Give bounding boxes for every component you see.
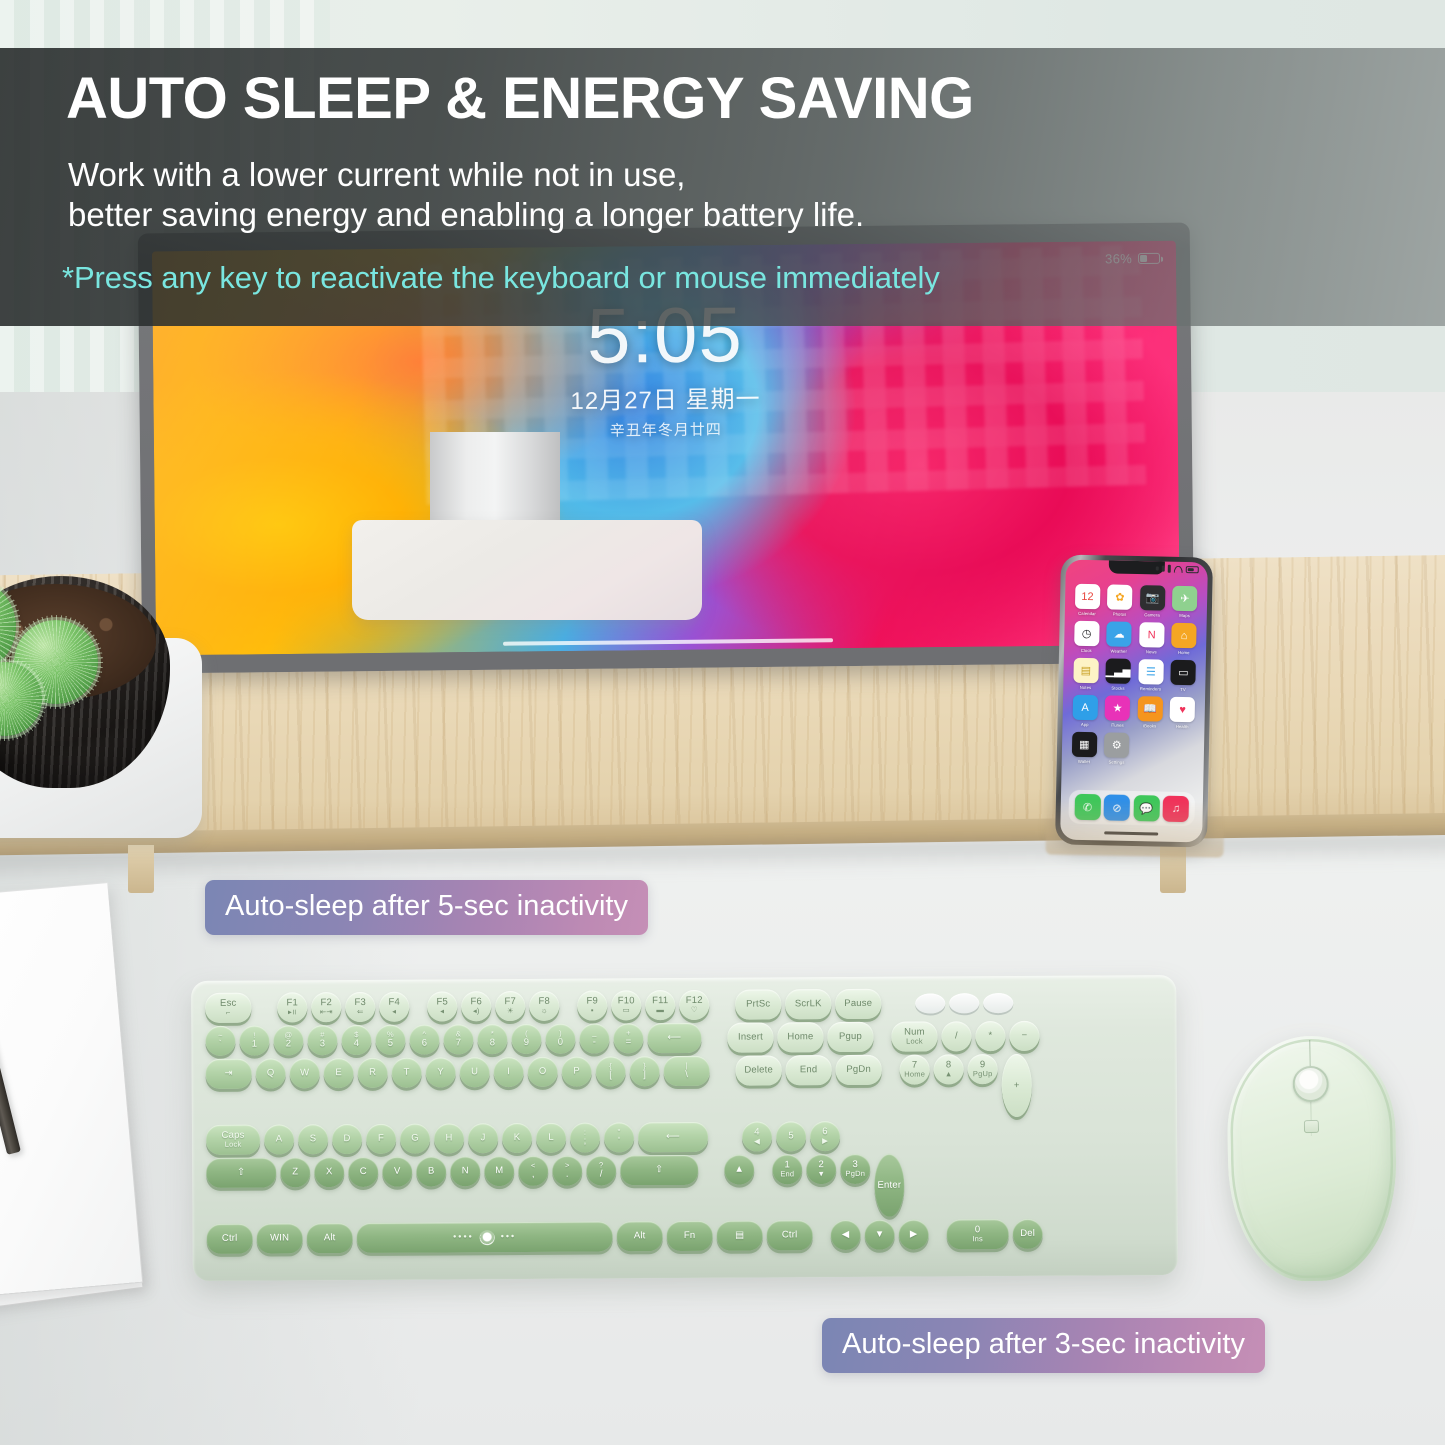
key-f11[interactable]: F11▬	[645, 990, 675, 1020]
app-icon-itunes[interactable]: ★iTunes	[1104, 695, 1131, 728]
key-j[interactable]: J	[468, 1123, 498, 1153]
app-icon-wallet[interactable]: ▦Wallet	[1071, 732, 1098, 765]
key-legend: Q	[267, 1069, 275, 1079]
key-legend: *	[988, 1031, 992, 1041]
key-legend: E	[335, 1068, 342, 1078]
key-legend: ▤	[735, 1231, 744, 1241]
key-f4[interactable]: F4◂	[379, 992, 409, 1022]
key-legend: `	[219, 1040, 222, 1050]
key-r[interactable]: R	[358, 1058, 388, 1088]
key-legend: 1	[252, 1040, 258, 1050]
key-legend: ;	[584, 1137, 587, 1147]
app-label: Clock	[1081, 648, 1092, 653]
key-3[interactable]: 3PgDn	[840, 1154, 870, 1184]
key-key[interactable]: ⇧	[620, 1155, 698, 1185]
key-6[interactable]: 6▶	[810, 1121, 840, 1151]
photos-icon[interactable]: ✿	[1107, 584, 1133, 610]
key-d[interactable]: D	[332, 1124, 362, 1154]
app-icon-maps[interactable]: ✈Maps	[1171, 586, 1198, 619]
key-legend: J	[481, 1133, 486, 1143]
callout-mouse-sleep: Auto-sleep after 3-sec inactivity	[822, 1318, 1265, 1373]
key-shift-legend: }	[643, 1063, 646, 1071]
key-9[interactable]: (9	[511, 1024, 541, 1054]
app-label: iBooks	[1143, 723, 1156, 728]
key-sub-legend: ◀	[754, 1138, 760, 1146]
key-key[interactable]: |\	[664, 1056, 710, 1086]
key-shift-legend: $	[354, 1031, 358, 1039]
key-legend: Enter	[877, 1180, 901, 1190]
app-label: iTunes	[1111, 723, 1124, 728]
app-label: Camera	[1144, 612, 1160, 617]
key-h[interactable]: H	[434, 1123, 464, 1153]
key-fn[interactable]: Fn	[667, 1221, 713, 1251]
key-ctrl[interactable]: Ctrl	[767, 1220, 813, 1250]
status-led	[915, 993, 945, 1013]
maps-icon[interactable]: ✈	[1172, 586, 1198, 612]
key-shift-legend: <	[531, 1162, 536, 1170]
key-5[interactable]: %5	[375, 1025, 405, 1055]
key-u[interactable]: U	[460, 1057, 490, 1087]
app-icon-calendar[interactable]: 12Calendar	[1074, 584, 1101, 617]
key-key[interactable]: −	[1009, 1021, 1039, 1051]
key-legend: Alt	[324, 1233, 336, 1243]
key-sub-legend: ▸॥	[288, 1008, 297, 1016]
key-shift-legend: _	[592, 1030, 596, 1038]
banner-subtitle-line-2: better saving energy and enabling a long…	[68, 195, 864, 235]
key-legend: ⟵	[666, 1132, 680, 1142]
key-shift-legend: #	[320, 1032, 324, 1040]
app-icon-tv[interactable]: ▭TV	[1170, 660, 1197, 693]
key-legend: Pgup	[839, 1032, 862, 1042]
key-key[interactable]: ⇥	[206, 1059, 252, 1089]
key-legend: Insert	[738, 1033, 763, 1043]
key-key[interactable]: /	[941, 1021, 971, 1051]
key-sub-legend: ♡	[691, 1006, 698, 1014]
key-o[interactable]: O	[528, 1057, 558, 1087]
wireless-keyboard[interactable]: Esc⌐F1▸॥F2⇤⇥F3⇐F4◂F5◂F6◂)F7☀F8☼F9▪F10▭F1…	[191, 975, 1178, 1281]
key-sub-legend: PgUp	[973, 1070, 993, 1078]
status-led	[949, 993, 979, 1013]
key-legend: -	[593, 1038, 596, 1048]
key-delete[interactable]: Delete	[736, 1055, 782, 1085]
key-key[interactable]: {[	[596, 1056, 626, 1086]
app-icon-ibooks[interactable]: 📖iBooks	[1136, 696, 1163, 729]
key-insert[interactable]: Insert	[727, 1022, 773, 1052]
key-0[interactable]: 0Ins	[947, 1219, 1009, 1249]
key-q[interactable]: Q	[256, 1058, 286, 1088]
wireless-mouse[interactable]	[1226, 1035, 1398, 1283]
key-caps[interactable]: CapsLock	[206, 1125, 260, 1155]
key-sub-legend: ⇤⇥	[320, 1008, 333, 1016]
key-legend: ,	[532, 1170, 535, 1180]
key-pause[interactable]: Pause	[835, 989, 881, 1019]
key-legend: 4	[354, 1039, 360, 1049]
key-sub-legend: ▶	[822, 1137, 828, 1145]
key-legend: ▶	[910, 1230, 918, 1240]
key-l[interactable]: L	[536, 1123, 566, 1153]
key-g[interactable]: G	[400, 1124, 430, 1154]
itunes-icon[interactable]: ★	[1105, 695, 1131, 721]
app-icon-news[interactable]: NNews	[1138, 622, 1165, 655]
key-shift-legend: %	[387, 1031, 394, 1039]
key-sub-legend: ▬	[656, 1006, 664, 1014]
key-shift-legend: @	[284, 1032, 292, 1040]
key-k[interactable]: K	[502, 1123, 532, 1153]
key-legend: /	[955, 1031, 958, 1041]
cactus-plant	[0, 520, 232, 840]
app-label: News	[1146, 649, 1157, 654]
key-t[interactable]: T	[392, 1058, 422, 1088]
dpi-button[interactable]	[1304, 1120, 1319, 1133]
key-legend: ScrLK	[795, 999, 822, 1009]
key-legend: H	[445, 1134, 452, 1144]
key-z[interactable]: Z	[280, 1157, 310, 1187]
key-legend: \	[685, 1070, 688, 1080]
key-legend: V	[394, 1167, 401, 1177]
key-sub-legend: ◂)	[473, 1007, 480, 1015]
brand-logo: •••••••	[453, 1230, 516, 1245]
reminders-icon[interactable]: ☰	[1138, 659, 1164, 685]
app-label: Notes	[1080, 685, 1092, 690]
key-legend: 3	[320, 1039, 326, 1049]
key-space[interactable]: •••••••	[357, 1221, 613, 1253]
key-key[interactable]: <,	[518, 1156, 548, 1186]
banner-subtitle: Work with a lower current while not in u…	[68, 155, 864, 236]
key-p[interactable]: P	[562, 1057, 592, 1087]
key-legend: /	[600, 1169, 603, 1179]
key-w[interactable]: W	[290, 1058, 320, 1088]
key-v[interactable]: V	[382, 1157, 412, 1187]
app-label: Weather	[1111, 648, 1128, 653]
key-legend: 8	[490, 1038, 496, 1048]
key-sub-legend: PgDn	[845, 1170, 865, 1178]
key-end[interactable]: End	[786, 1055, 832, 1085]
key-pgup[interactable]: Pgup	[827, 1022, 873, 1052]
key-legend: Delete	[744, 1066, 773, 1076]
monitor-stand-base	[352, 520, 702, 620]
logo-dots-left: ••••	[453, 1233, 474, 1242]
key-f9[interactable]: F9▪	[577, 990, 607, 1020]
key-4[interactable]: 4◀	[742, 1121, 772, 1151]
key-sub-legend: ◂	[392, 1008, 396, 1016]
tv-icon[interactable]: ▭	[1171, 660, 1197, 686]
key-legend: .	[566, 1170, 569, 1180]
app-icon-stocks[interactable]: ▁▃▅Stocks	[1105, 658, 1132, 691]
key-1[interactable]: !1	[239, 1026, 269, 1056]
key-7[interactable]: 7Home	[900, 1055, 930, 1085]
key-ctrl[interactable]: Ctrl	[207, 1224, 253, 1254]
key-key[interactable]: ~`	[205, 1026, 235, 1056]
key-key[interactable]: "'	[604, 1122, 634, 1152]
app-label: Photos	[1113, 612, 1127, 617]
key-legend: O	[539, 1067, 547, 1077]
key-legend: '	[618, 1136, 620, 1146]
key-key[interactable]: ◀	[831, 1220, 861, 1250]
phone-battery-icon	[1186, 566, 1199, 573]
key-legend: P	[573, 1067, 580, 1077]
key-6[interactable]: ^6	[409, 1024, 439, 1054]
key-f12[interactable]: F12♡	[679, 990, 709, 1020]
key-key[interactable]: ?/	[586, 1155, 616, 1185]
key-scrlk[interactable]: ScrLK	[785, 989, 831, 1019]
key-shift-legend: ^	[423, 1031, 427, 1039]
app-label: App	[1081, 722, 1089, 727]
key-legend: WIN	[270, 1234, 289, 1244]
signal-bar	[1156, 566, 1159, 570]
key-legend: I	[507, 1067, 510, 1077]
key-n[interactable]: N	[450, 1156, 480, 1186]
key-x[interactable]: X	[314, 1157, 344, 1187]
key-legend: Fn	[684, 1231, 696, 1241]
key-key[interactable]: +	[1002, 1054, 1032, 1117]
keyboard-row-fn: Esc⌐F1▸॥F2⇤⇥F3⇐F4◂F5◂F6◂)F7☀F8☼F9▪F10▭F1…	[205, 987, 1162, 1023]
key-prtsc[interactable]: PrtSc	[735, 989, 781, 1019]
app-label: Calendar	[1078, 611, 1096, 616]
key-1[interactable]: 1End	[772, 1154, 802, 1184]
app-label: Reminders	[1140, 686, 1161, 691]
key-legend: 6	[422, 1039, 428, 1049]
key-f3[interactable]: F3⇐	[345, 992, 375, 1022]
key-legend: N	[462, 1166, 469, 1176]
key-legend: ⇧	[237, 1168, 245, 1178]
key-i[interactable]: I	[494, 1057, 524, 1087]
key-legend: Ctrl	[222, 1234, 238, 1244]
key-legend: +	[1014, 1081, 1020, 1091]
key-legend: ▲	[734, 1165, 744, 1175]
key-sub-legend: Ins	[972, 1235, 983, 1243]
key-legend: −	[1022, 1031, 1028, 1041]
key-alt[interactable]: Alt	[307, 1223, 353, 1253]
app-icon-photos[interactable]: ✿Photos	[1106, 584, 1133, 617]
key-f1[interactable]: F1▸॥	[277, 992, 307, 1022]
key-legend: ]	[643, 1070, 646, 1080]
key-sub-legend: End	[780, 1170, 794, 1178]
key-f2[interactable]: F2⇤⇥	[311, 992, 341, 1022]
status-led	[983, 993, 1013, 1013]
callout-keyboard-sleep: Auto-sleep after 5-sec inactivity	[205, 880, 648, 935]
home-icon[interactable]: ⌂	[1171, 623, 1197, 649]
key-legend: Y	[437, 1068, 444, 1078]
key-key[interactable]: _-	[579, 1023, 609, 1053]
signal-bar	[1168, 565, 1171, 573]
key-f7[interactable]: F7☀	[495, 991, 525, 1021]
settings-icon[interactable]: ⚙	[1104, 732, 1130, 758]
key-5[interactable]: 5	[776, 1121, 806, 1151]
key-legend: S	[310, 1134, 317, 1144]
key-legend: B	[428, 1167, 435, 1177]
key-key[interactable]: ⟵	[638, 1122, 708, 1152]
key-b[interactable]: B	[416, 1156, 446, 1186]
key-legend: U	[471, 1067, 478, 1077]
app-label: Home	[1178, 650, 1190, 655]
key-shift-legend: |	[686, 1062, 688, 1070]
key-sub-legend: Lock	[906, 1038, 923, 1046]
key-legend: D	[344, 1134, 351, 1144]
key-3[interactable]: #3	[307, 1025, 337, 1055]
key-2[interactable]: 2▼	[806, 1154, 836, 1184]
keyboard-row-bottom: CtrlWINAlt•••••••AltFn▤Ctrl◀▼▶0InsDel	[207, 1218, 1164, 1254]
key-7[interactable]: &7	[443, 1024, 473, 1054]
app-label: Health	[1176, 724, 1189, 729]
key-legend: Pause	[844, 999, 872, 1009]
key-legend: 9	[524, 1038, 530, 1048]
phone-stand-slot	[1046, 798, 1225, 857]
key-legend: M	[495, 1166, 503, 1176]
key-s[interactable]: S	[298, 1124, 328, 1154]
key-legend: ⇥	[225, 1069, 233, 1079]
key-8[interactable]: 8▲	[934, 1054, 964, 1084]
key-f10[interactable]: F10▭	[611, 990, 641, 1020]
keyboard-row-qwerty: ⇥QWERTYUIOP{[}]|\DeleteEndPgDn7Home8▲9Pg…	[206, 1053, 1163, 1122]
key-legend: =	[626, 1037, 632, 1047]
key-f[interactable]: F	[366, 1124, 396, 1154]
key-legend: Del	[1020, 1229, 1035, 1239]
key-key[interactable]: +=	[613, 1023, 643, 1053]
key-sub-legend: ▪	[591, 1007, 594, 1015]
banner-subtitle-line-1: Work with a lower current while not in u…	[68, 155, 864, 195]
key-shift-legend: ~	[218, 1032, 223, 1040]
key-f5[interactable]: F5◂	[427, 991, 457, 1021]
key-legend: ⇧	[655, 1165, 663, 1175]
key-legend: F	[378, 1134, 384, 1144]
key-legend: Home	[787, 1032, 813, 1042]
key-key[interactable]: ▤	[717, 1221, 763, 1251]
key-shift-legend: )	[559, 1030, 562, 1038]
wallet-icon[interactable]: ▦	[1072, 732, 1098, 758]
app-icon-health[interactable]: ♥Health	[1169, 697, 1196, 730]
key-legend: K	[514, 1133, 521, 1143]
key-legend: 5	[388, 1039, 394, 1049]
key-legend: 5	[788, 1131, 794, 1141]
app-icon-home[interactable]: ⌂Home	[1170, 623, 1197, 656]
keyboard-row-num: ~`!1@2#3$4%5^6&7*8(9)0_-+=⟵InsertHomePgu…	[205, 1020, 1162, 1056]
key-esc[interactable]: Esc⌐	[205, 993, 251, 1023]
banner-title: AUTO SLEEP & ENERGY SAVING	[66, 70, 974, 128]
key-alt[interactable]: Alt	[617, 1221, 663, 1251]
key-a[interactable]: A	[264, 1124, 294, 1154]
key-f8[interactable]: F8☼	[529, 991, 559, 1021]
key-sub-legend: ⇐	[357, 1008, 364, 1016]
key-4[interactable]: $4	[341, 1025, 371, 1055]
key-shift-legend: :	[584, 1129, 586, 1137]
key-shift-legend: &	[456, 1031, 461, 1039]
lock-date: 12月27日 星期一	[153, 375, 1177, 421]
key-enter[interactable]: Enter	[874, 1154, 904, 1217]
key-legend: Alt	[634, 1231, 646, 1241]
key-0[interactable]: )0	[545, 1024, 575, 1054]
key-sub-legend: ▲	[945, 1070, 953, 1078]
app-icon[interactable]: A	[1072, 695, 1098, 721]
key-shift-legend: {	[609, 1063, 612, 1071]
key-legend: [	[609, 1070, 612, 1080]
key-2[interactable]: @2	[273, 1025, 303, 1055]
key-key[interactable]: :;	[570, 1123, 600, 1153]
app-icon-clock[interactable]: ◷Clock	[1073, 621, 1100, 654]
key-win[interactable]: WIN	[257, 1223, 303, 1253]
key-legend: X	[326, 1167, 333, 1177]
key-home[interactable]: Home	[777, 1022, 823, 1052]
key-sub-legend: Lock	[225, 1141, 242, 1149]
app-icon-weather[interactable]: ☁Weather	[1105, 621, 1132, 654]
key-legend: C	[360, 1167, 367, 1177]
app-icon-reminders[interactable]: ☰Reminders	[1137, 659, 1164, 692]
key-legend: 0	[558, 1038, 564, 1048]
monitor-neck	[430, 432, 560, 522]
key-shift-legend: ?	[599, 1162, 603, 1170]
camera-icon[interactable]: 📷	[1140, 585, 1166, 611]
key-legend: ◀	[842, 1230, 850, 1240]
key-key[interactable]: ⇧	[206, 1157, 276, 1187]
weather-icon[interactable]: ☁	[1106, 621, 1132, 647]
phone-status-bar	[1156, 564, 1199, 573]
key-legend: Z	[292, 1168, 298, 1178]
key-8[interactable]: *8	[477, 1024, 507, 1054]
app-icon-app[interactable]: AApp	[1071, 695, 1098, 728]
key-sub-legend: ☼	[541, 1007, 548, 1015]
key-legend: 7	[456, 1038, 462, 1048]
key-legend: End	[800, 1065, 818, 1075]
health-icon[interactable]: ♥	[1170, 697, 1196, 723]
app-icon-settings[interactable]: ⚙Settings	[1103, 732, 1130, 765]
key-legend: R	[369, 1068, 376, 1078]
key-key[interactable]: ▲	[724, 1155, 754, 1185]
key-shift-legend: +	[626, 1030, 631, 1038]
stocks-icon[interactable]: ▁▃▅	[1106, 658, 1132, 684]
key-pgdn[interactable]: PgDn	[836, 1055, 882, 1085]
key-key[interactable]: }]	[630, 1056, 660, 1086]
app-icon-notes[interactable]: ▤Notes	[1072, 658, 1099, 691]
crest-icon	[480, 1230, 495, 1245]
clock-icon[interactable]: ◷	[1074, 621, 1100, 647]
shelf-leg-left	[128, 845, 154, 893]
key-key[interactable]: ▼	[865, 1220, 895, 1250]
key-9[interactable]: 9PgUp	[968, 1054, 998, 1084]
key-sub-legend: ▭	[623, 1006, 630, 1014]
key-y[interactable]: Y	[426, 1057, 456, 1087]
key-legend: ⟵	[667, 1033, 681, 1043]
ibooks-icon[interactable]: 📖	[1137, 696, 1163, 722]
app-label: Settings	[1108, 759, 1124, 764]
phone-app-grid: 12Calendar✿Photos📷Camera✈Maps◷Clock☁Weat…	[1071, 584, 1199, 767]
news-icon[interactable]: N	[1139, 622, 1165, 648]
key-key[interactable]: ⟵	[647, 1023, 701, 1053]
key-c[interactable]: C	[348, 1157, 378, 1187]
key-legend: G	[411, 1134, 419, 1144]
key-num[interactable]: NumLock	[891, 1021, 937, 1051]
keyboard-row-home: CapsLockASDFGHJKL:;"'⟵4◀56▶	[206, 1119, 1163, 1155]
app-icon-camera[interactable]: 📷Camera	[1139, 585, 1166, 618]
cactus-ball	[0, 662, 42, 736]
key-e[interactable]: E	[324, 1058, 354, 1088]
key-del[interactable]: Del	[1013, 1219, 1043, 1249]
signal-bar	[1162, 566, 1165, 572]
key-f6[interactable]: F6◂)	[461, 991, 491, 1021]
key-shift-legend: >	[565, 1162, 570, 1170]
notes-icon[interactable]: ▤	[1073, 658, 1099, 684]
calendar-icon[interactable]: 12	[1075, 584, 1101, 610]
app-label: TV	[1180, 687, 1186, 692]
key-key[interactable]: *	[975, 1021, 1005, 1051]
key-sub-legend: ⌐	[226, 1009, 231, 1017]
key-shift-legend: *	[491, 1030, 494, 1038]
key-legend: ▼	[875, 1230, 885, 1240]
app-label: Wallet	[1078, 759, 1090, 764]
key-legend: 2	[286, 1039, 292, 1049]
key-m[interactable]: M	[484, 1156, 514, 1186]
key-sub-legend: Home	[904, 1071, 925, 1079]
key-key[interactable]: ▶	[899, 1220, 929, 1250]
key-key[interactable]: >.	[552, 1156, 582, 1186]
